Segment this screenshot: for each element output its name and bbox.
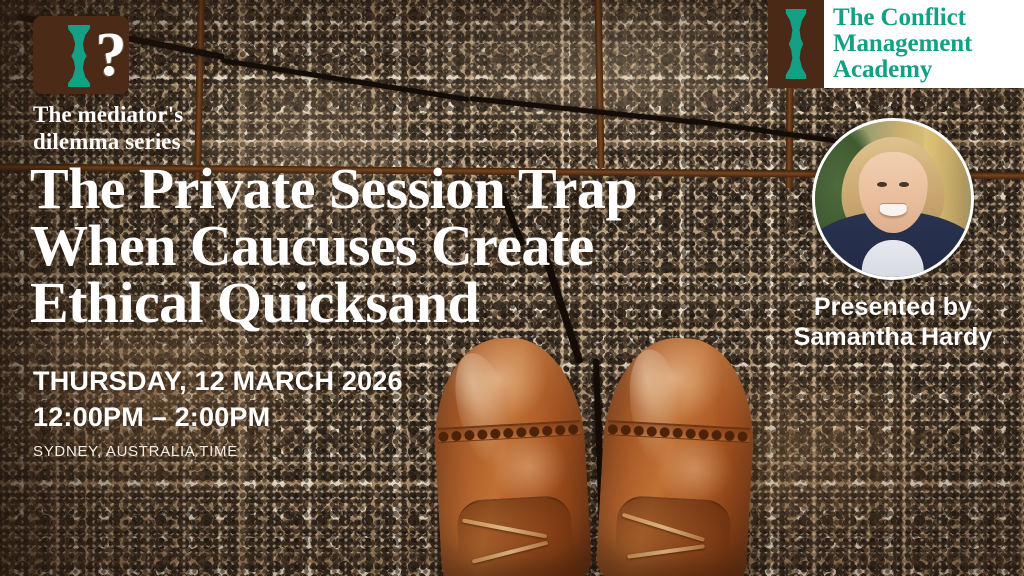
event-date: THURSDAY, 12 MARCH 2026 [33,364,403,400]
goblet-question-mark-icon: ? [33,16,129,94]
goblet-profiles-icon [768,0,824,88]
brand-name-line-2: Management [833,31,972,57]
question-mark-icon: ? [91,20,131,94]
series-label-line-1: The mediator's [33,102,183,129]
event-datetime-block: THURSDAY, 12 MARCH 2026 12:00PM – 2:00PM… [33,364,403,460]
brand-name: The Conflict Management Academy [824,5,972,83]
headline-line-1: The Private Session Trap [30,160,790,217]
brand-name-line-3: Academy [833,57,972,83]
webinar-promo-poster: The Conflict Management Academy ? The me… [0,0,1024,576]
goblet-shape [781,9,811,79]
presenter-credit: Presented by Samantha Hardy [778,293,1008,352]
brand-name-line-1: The Conflict [833,5,972,31]
presenter-name: Samantha Hardy [778,323,1008,353]
series-label: The mediator's dilemma series [33,102,183,155]
headline-line-3: Ethical Quicksand [30,274,790,331]
brand-banner: The Conflict Management Academy [768,0,1024,88]
headline-line-2: When Caucuses Create [30,217,790,274]
presenter-block: Presented by Samantha Hardy [778,118,1008,352]
series-label-line-2: dilemma series [33,129,183,156]
event-timezone: SYDNEY, AUSTRALIA TIME [33,443,403,460]
avatar [812,118,974,280]
portrait-eye-left [877,182,886,187]
presenter-prefix: Presented by [778,293,1008,323]
event-time: 12:00PM – 2:00PM [33,400,403,436]
page-title: The Private Session Trap When Caucuses C… [30,160,790,331]
series-block: ? The mediator's dilemma series [33,16,183,155]
portrait-eye-right [899,182,908,187]
